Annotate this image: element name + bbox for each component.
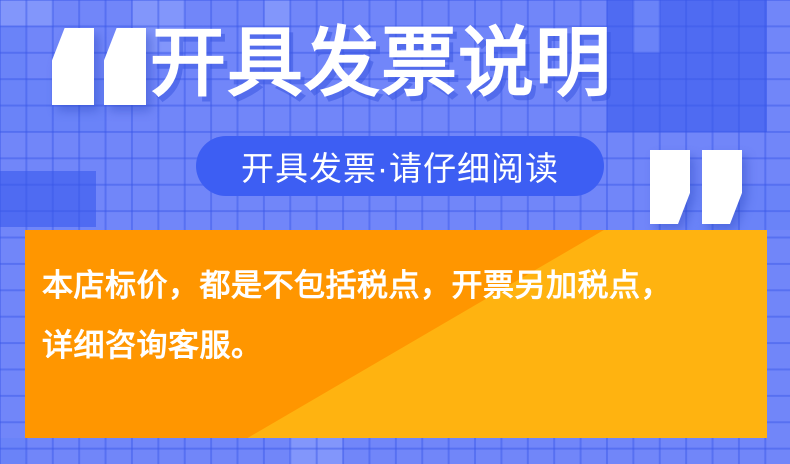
notice-panel: 本店标价，都是不包括税点，开票另加税点， 详细咨询客服。 [25,230,767,438]
close-quote-icon [650,150,742,224]
open-quote-icon [52,28,146,105]
notice-line-1: 本店标价，都是不包括税点，开票另加税点， [42,256,761,316]
page-title: 开具发票说明 [150,26,612,102]
bg-block-left-mid [0,171,96,227]
bg-block-8 [0,438,26,464]
bg-block-9 [290,438,343,464]
notice-panel-text: 本店标价，都是不包括税点，开票另加税点， 详细咨询客服。 [42,256,761,377]
bg-block-5 [660,0,739,53]
bg-block-2 [0,26,26,79]
bg-block-1 [0,0,53,26]
subtitle-badge: 开具发票·请仔细阅读 [196,136,604,196]
invoice-notice-banner: 开具发票说明 开具发票·请仔细阅读 本店标价，都是不包括税点，开票另加税点， 详… [0,0,790,464]
subtitle-badge-label: 开具发票·请仔细阅读 [241,142,559,190]
notice-line-2: 详细咨询客服。 [42,316,761,376]
